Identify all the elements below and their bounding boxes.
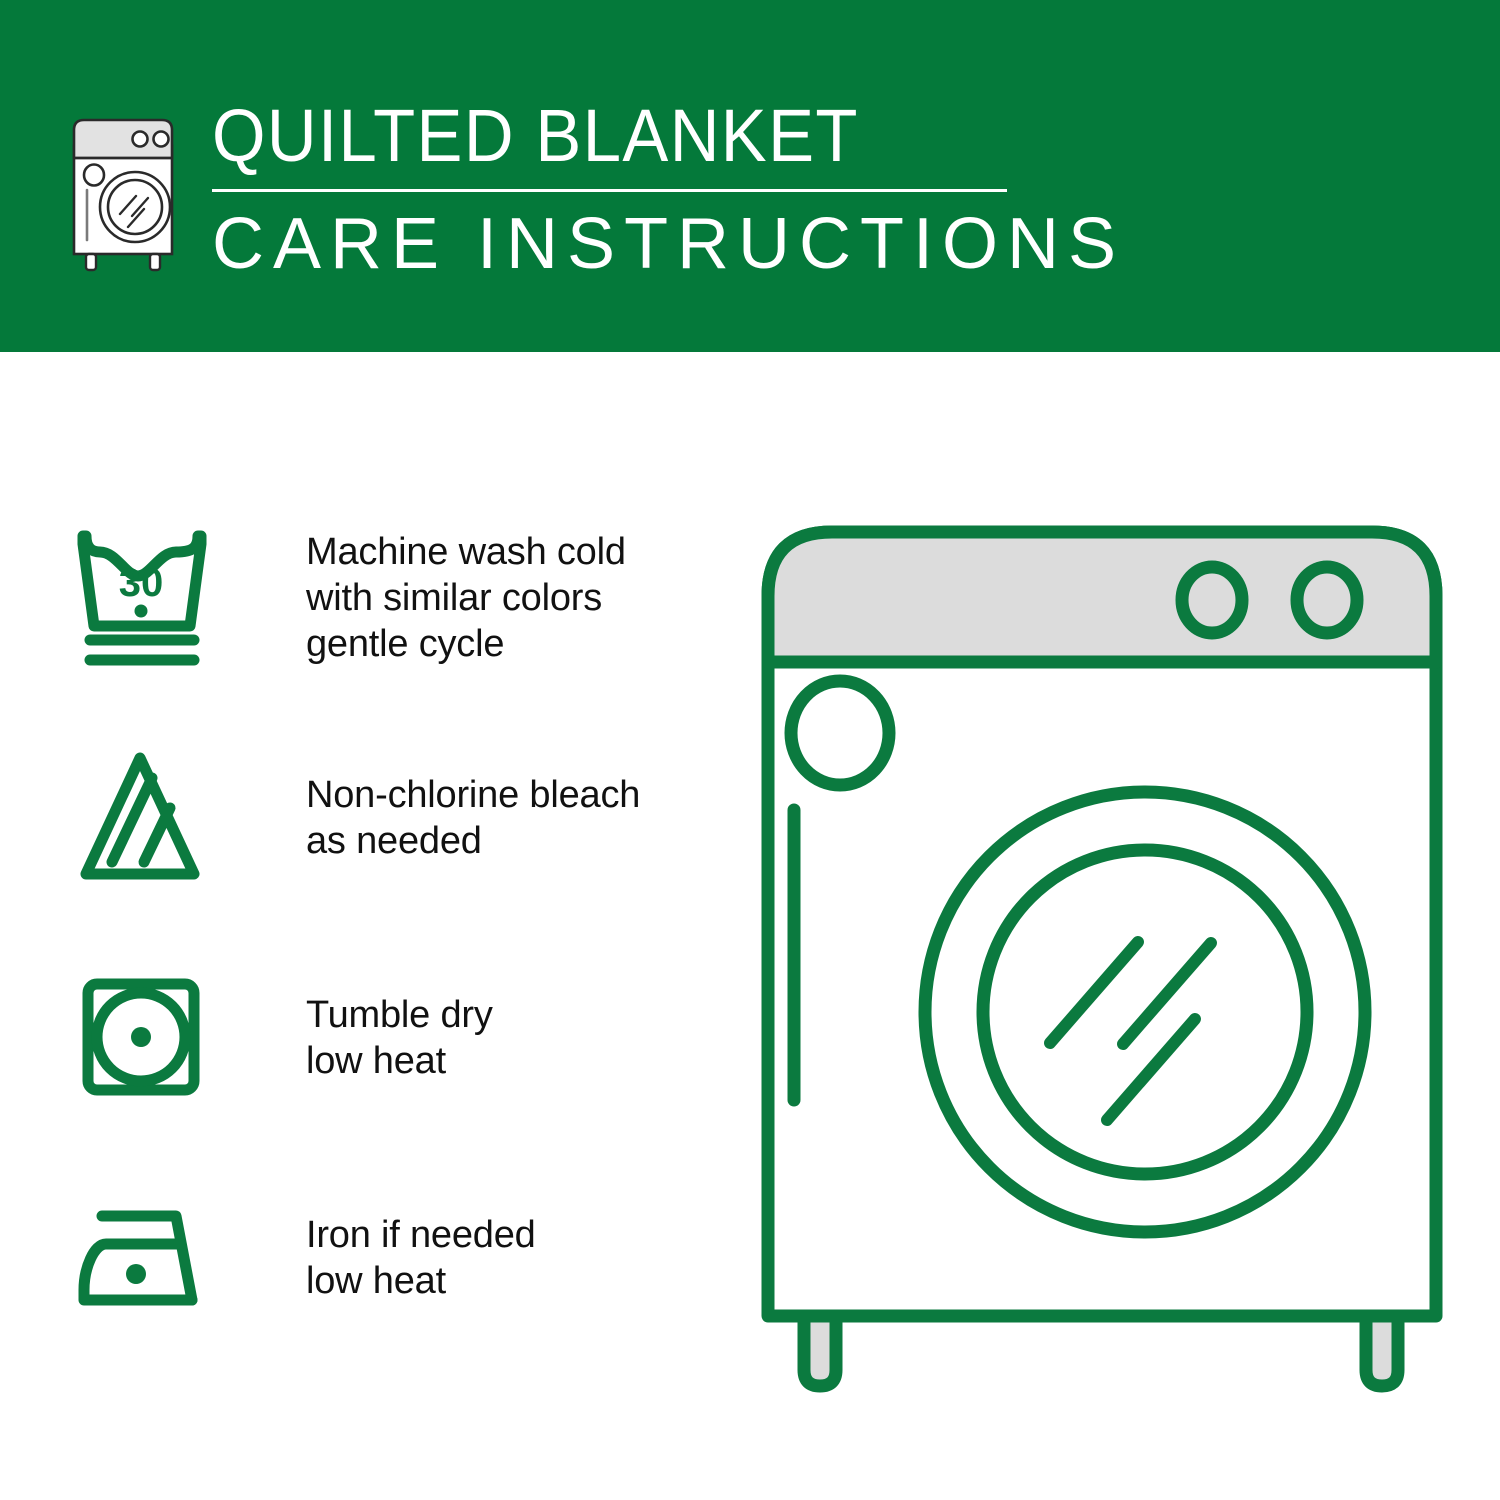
wash-temperature-label: 30 (119, 561, 164, 605)
header-title-group: QUILTED BLANKET CARE INSTRUCTIONS (212, 96, 1125, 285)
washer-leg-left (804, 1312, 836, 1386)
care-text-line: as needed (306, 818, 640, 864)
care-text-line: Iron if needed (306, 1212, 536, 1258)
header-content: QUILTED BLANKET CARE INSTRUCTIONS (0, 0, 1125, 285)
care-text-line: Tumble dry (306, 992, 493, 1038)
header-banner: QUILTED BLANKET CARE INSTRUCTIONS (0, 0, 1500, 352)
list-item-label: Non-chlorine bleach as needed (306, 772, 640, 864)
control-knob (1297, 567, 1357, 633)
care-text-line: low heat (306, 1258, 536, 1304)
tumble-dry-low-heat-icon (70, 958, 240, 1118)
non-chlorine-bleach-triangle-icon (70, 738, 240, 898)
machine-wash-30-gentle-icon: 30 (70, 518, 240, 678)
care-text-line: Machine wash cold (306, 529, 626, 575)
list-item: Iron if needed low heat (70, 1170, 710, 1346)
list-item-label: Iron if needed low heat (306, 1212, 536, 1304)
list-item-label: Tumble dry low heat (306, 992, 493, 1084)
care-text-line: low heat (306, 1038, 493, 1084)
care-text-line: Non-chlorine bleach (306, 772, 640, 818)
dispenser-knob (791, 681, 889, 785)
list-item: Tumble dry low heat (70, 950, 710, 1126)
title-divider (212, 189, 1007, 192)
front-load-washing-machine-illustration (752, 510, 1452, 1420)
iron-low-heat-icon (70, 1178, 240, 1338)
care-instruction-list: 30 Machine wash cold with similar colors… (70, 510, 710, 1346)
list-item: Non-chlorine bleach as needed (70, 730, 710, 906)
page-subtitle: CARE INSTRUCTIONS (212, 203, 1125, 285)
page-title: QUILTED BLANKET (212, 96, 1061, 176)
list-item-label: Machine wash cold with similar colors ge… (306, 529, 626, 667)
content-area: 30 Machine wash cold with similar colors… (0, 352, 1500, 1500)
care-text-line: gentle cycle (306, 621, 626, 667)
list-item: 30 Machine wash cold with similar colors… (70, 510, 710, 686)
washing-machine-icon (62, 106, 190, 278)
washer-leg-right (1366, 1312, 1398, 1386)
care-text-line: with similar colors (306, 575, 626, 621)
control-knob (1182, 567, 1242, 633)
